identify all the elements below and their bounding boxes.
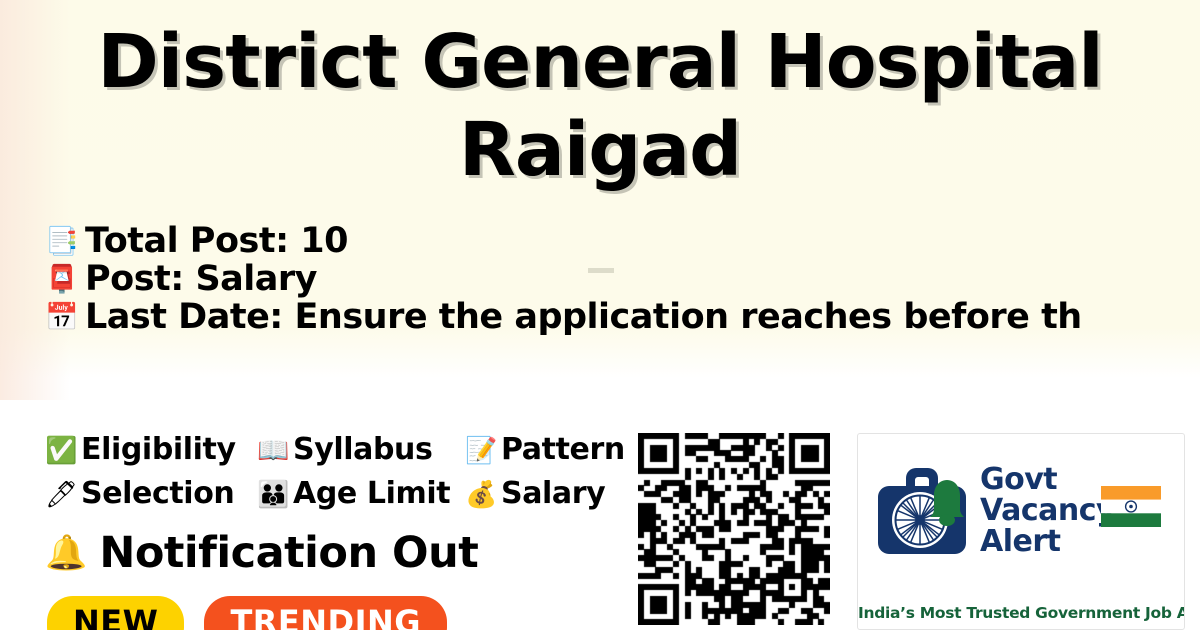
info-post-salary-label: Post: Salary [85, 260, 317, 298]
feature-grid: ✅ Eligibility 📖 Syllabus 📝 Pattern 🖊 Sel… [45, 428, 685, 516]
info-list: 📑 Total Post: 10 📮 Post: Salary 📅 Last D… [0, 222, 1200, 336]
money-bag-icon: 💰 [465, 481, 493, 507]
people-icon: 👪 [257, 481, 285, 507]
feature-syllabus[interactable]: 📖 Syllabus [257, 433, 465, 467]
selection-hand-icon: 🖊 [45, 481, 73, 507]
feature-age-limit[interactable]: 👪 Age Limit [257, 477, 465, 511]
brand-tagline: India’s Most Trusted Government Job Aler… [858, 604, 1184, 622]
feature-selection-label: Selection [81, 477, 234, 511]
feature-pattern-label: Pattern [501, 433, 625, 467]
exam-paper-icon: 📝 [465, 437, 493, 463]
feature-salary-label: Salary [501, 477, 605, 511]
info-row-post-salary: 📮 Post: Salary [45, 260, 1200, 298]
info-row-last-date: 📅 Last Date: Ensure the application reac… [45, 298, 1200, 336]
feature-eligibility[interactable]: ✅ Eligibility [45, 433, 257, 467]
briefcase-chakra-bell-icon [870, 458, 974, 562]
qr-code[interactable] [638, 433, 830, 625]
india-flag-icon [1101, 486, 1161, 527]
info-row-total-post: 📑 Total Post: 10 [45, 222, 1200, 260]
brand-word-1: Govt [980, 464, 1115, 495]
badge-group: NEW TRENDING [47, 596, 447, 630]
brand-word-3: Alert [980, 526, 1115, 557]
feature-selection[interactable]: 🖊 Selection [45, 477, 257, 511]
bell-icon: 🔔 [45, 536, 87, 570]
feature-eligibility-label: Eligibility [81, 433, 236, 467]
job-stamp-icon: 📮 [45, 266, 75, 293]
feature-syllabus-label: Syllabus [293, 433, 432, 467]
status-badge-trending[interactable]: TRENDING [204, 596, 447, 630]
info-last-date-label: Last Date: Ensure the application reache… [85, 298, 1082, 336]
job-alert-poster: District General Hospital Raigad 📑 Total… [0, 0, 1200, 630]
brand-wordmark: Govt Vacancy Alert [980, 464, 1115, 557]
info-total-post-label: Total Post: 10 [85, 222, 348, 260]
feature-row-2: 🖊 Selection 👪 Age Limit 💰 Salary [45, 472, 685, 516]
qr-code-canvas [638, 433, 830, 625]
title-line-2: Raigad [0, 106, 1200, 194]
calendar-icon: 📅 [45, 304, 75, 331]
notification-label: Notification Out [99, 528, 478, 578]
check-mark-icon: ✅ [45, 437, 73, 463]
open-book-icon: 📖 [257, 437, 285, 463]
feature-age-limit-label: Age Limit [293, 477, 450, 511]
page-title: District General Hospital Raigad [0, 0, 1200, 194]
title-line-1: District General Hospital [0, 18, 1200, 106]
feature-row-1: ✅ Eligibility 📖 Syllabus 📝 Pattern [45, 428, 685, 472]
brand-logo-card[interactable]: Govt Vacancy Alert India’s Most Trusted … [857, 433, 1185, 630]
brand-word-2: Vacancy [980, 495, 1115, 526]
status-badge-new[interactable]: NEW [47, 596, 184, 630]
job-posting-icon: 📑 [45, 228, 75, 255]
notification-banner: 🔔 Notification Out [45, 528, 478, 578]
